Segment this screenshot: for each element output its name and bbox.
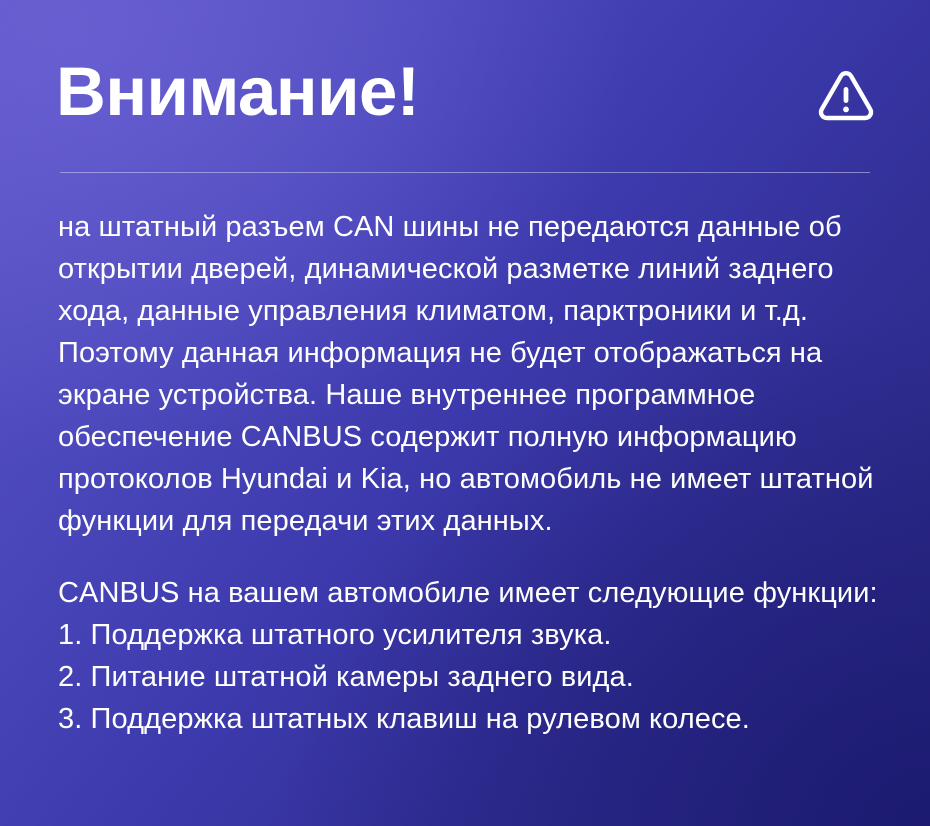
functions-block: CANBUS на вашем автомобиле имеет следующ… <box>58 572 878 740</box>
list-item: 2. Питание штатной камеры заднего вида. <box>58 656 878 698</box>
banner-content: на штатный разъем CAN шины не передаются… <box>58 206 878 740</box>
banner-header: Внимание! <box>0 0 930 176</box>
header-divider <box>60 172 870 173</box>
functions-list: 1. Поддержка штатного усилителя звука. 2… <box>58 614 878 740</box>
functions-heading: CANBUS на вашем автомобиле имеет следующ… <box>58 572 878 614</box>
list-item: 3. Поддержка штатных клавиш на рулевом к… <box>58 698 878 740</box>
list-item: 1. Поддержка штатного усилителя звука. <box>58 614 878 656</box>
warning-triangle-icon <box>815 66 877 126</box>
page-title: Внимание! <box>56 52 419 132</box>
intro-paragraph: на штатный разъем CAN шины не передаются… <box>58 206 874 542</box>
warning-banner: Внимание! на штатный разъем CAN шины не … <box>0 0 930 826</box>
